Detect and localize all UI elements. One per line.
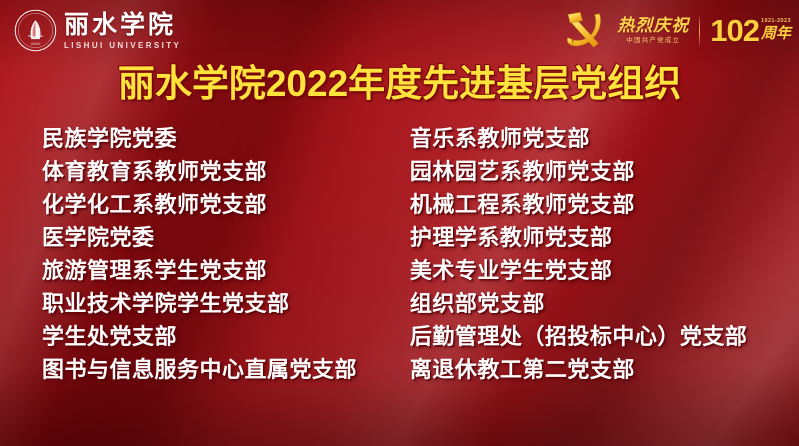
award-poster: LISHUI 丽水学院 LISHUI UNIVERSITY <box>0 0 799 446</box>
list-item: 美术专业学生党支部 <box>410 254 799 287</box>
anniversary-years-group: 1921-2023 周年 <box>761 16 791 42</box>
anniversary-year-range: 1921-2023 <box>761 18 791 24</box>
anniversary-badge: 热烈庆祝 中国共产党成立 102 1921-2023 周年 <box>562 8 791 54</box>
anniversary-divider <box>699 16 700 46</box>
anniversary-unit: 周年 <box>761 27 791 42</box>
university-name-cn: 丽水学院 <box>64 13 181 38</box>
university-logo: LISHUI 丽水学院 LISHUI UNIVERSITY <box>14 9 181 52</box>
list-item: 机械工程系教师党支部 <box>410 188 799 221</box>
lishui-university-seal-icon: LISHUI <box>14 9 57 52</box>
celebrate-sub: 中国共产党成立 <box>626 38 680 45</box>
svg-text:LISHUI: LISHUI <box>31 42 41 46</box>
anniversary-number-group: 102 1921-2023 周年 <box>710 16 791 45</box>
list-item: 医学院党委 <box>42 221 404 254</box>
cpc-hammer-sickle-emblem-icon <box>562 9 610 53</box>
anniversary-celebrate-text: 热烈庆祝 中国共产党成立 <box>617 17 689 45</box>
celebrate-main: 热烈庆祝 <box>617 17 689 34</box>
list-item: 图书与信息服务中心直属党支部 <box>42 353 404 386</box>
list-item: 旅游管理系学生党支部 <box>42 254 404 287</box>
list-item: 园林园艺系教师党支部 <box>410 155 799 188</box>
university-name-en: LISHUI UNIVERSITY <box>64 42 181 50</box>
list-item: 体育教育系教师党支部 <box>42 155 404 188</box>
university-wordmark: 丽水学院 LISHUI UNIVERSITY <box>64 13 181 50</box>
page-title: 丽水学院2022年度先进基层党组织 <box>0 62 799 106</box>
list-item: 音乐系教师党支部 <box>410 122 799 155</box>
organization-column-right: 音乐系教师党支部 园林园艺系教师党支部 机械工程系教师党支部 护理学系教师党支部… <box>404 122 799 446</box>
list-item: 后勤管理处（招投标中心）党支部 <box>410 320 799 353</box>
anniversary-number: 102 <box>710 16 759 45</box>
organization-column-left: 民族学院党委 体育教育系教师党支部 化学化工系教师党支部 医学院党委 旅游管理系… <box>0 122 404 446</box>
list-item: 护理学系教师党支部 <box>410 221 799 254</box>
organization-list: 民族学院党委 体育教育系教师党支部 化学化工系教师党支部 医学院党委 旅游管理系… <box>0 122 799 446</box>
poster-header: LISHUI 丽水学院 LISHUI UNIVERSITY <box>0 0 799 60</box>
list-item: 组织部党支部 <box>410 287 799 320</box>
list-item: 学生处党支部 <box>42 320 404 353</box>
list-item: 离退休教工第二党支部 <box>410 353 799 386</box>
list-item: 民族学院党委 <box>42 122 404 155</box>
list-item: 化学化工系教师党支部 <box>42 188 404 221</box>
list-item: 职业技术学院学生党支部 <box>42 287 404 320</box>
